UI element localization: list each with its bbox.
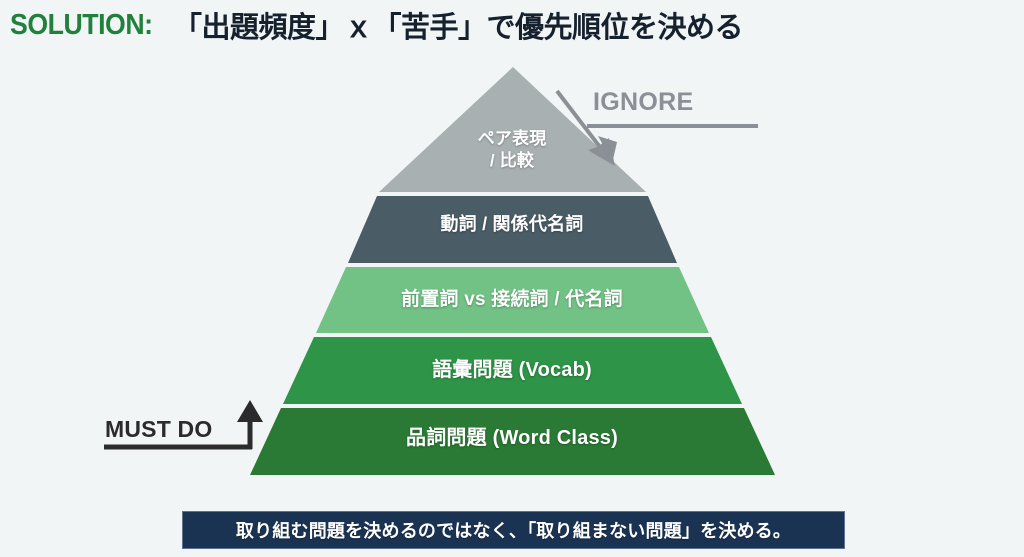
- pyramid-tier-middle-label: 前置詞 vs 接続詞 / 代名詞: [0, 287, 1024, 312]
- must-do-arrow-icon: [100, 398, 280, 468]
- pyramid-tier-top-label: ペア表現 / 比較: [0, 128, 1024, 173]
- ignore-annotation: IGNORE: [555, 88, 855, 178]
- caption-bar: 取り組む問題を決めるのではなく、「取り組まない問題」を決める。: [182, 511, 845, 549]
- pyramid-tier-upper-middle[interactable]: [348, 196, 677, 263]
- pyramid-tier-top-label-line1: ペア表現: [0, 128, 1024, 150]
- pyramid-tier-top-label-line2: / 比較: [0, 150, 1024, 172]
- title-main-text: 「出題頻度」ｘ「苦手」で優先順位を決める: [173, 4, 743, 46]
- ignore-arrow-icon: [555, 88, 855, 178]
- caption-text: 取り組む問題を決めるのではなく、「取り組まない問題」を決める。: [236, 517, 791, 543]
- pyramid-tier-lower-middle[interactable]: [283, 337, 742, 404]
- must-do-annotation: MUST DO: [100, 398, 280, 468]
- pyramid-tier-upper-middle-label: 動詞 / 関係代名詞: [0, 213, 1024, 237]
- pyramid-tier-middle[interactable]: [316, 267, 709, 333]
- pyramid-tier-lower-middle-label: 語彙問題 (Vocab): [0, 357, 1024, 383]
- title-solution-prefix: SOLUTION:: [10, 9, 153, 42]
- pyramid-tier-bottom[interactable]: [250, 408, 775, 475]
- page-title: SOLUTION: 「出題頻度」ｘ「苦手」で優先順位を決める: [10, 4, 1010, 46]
